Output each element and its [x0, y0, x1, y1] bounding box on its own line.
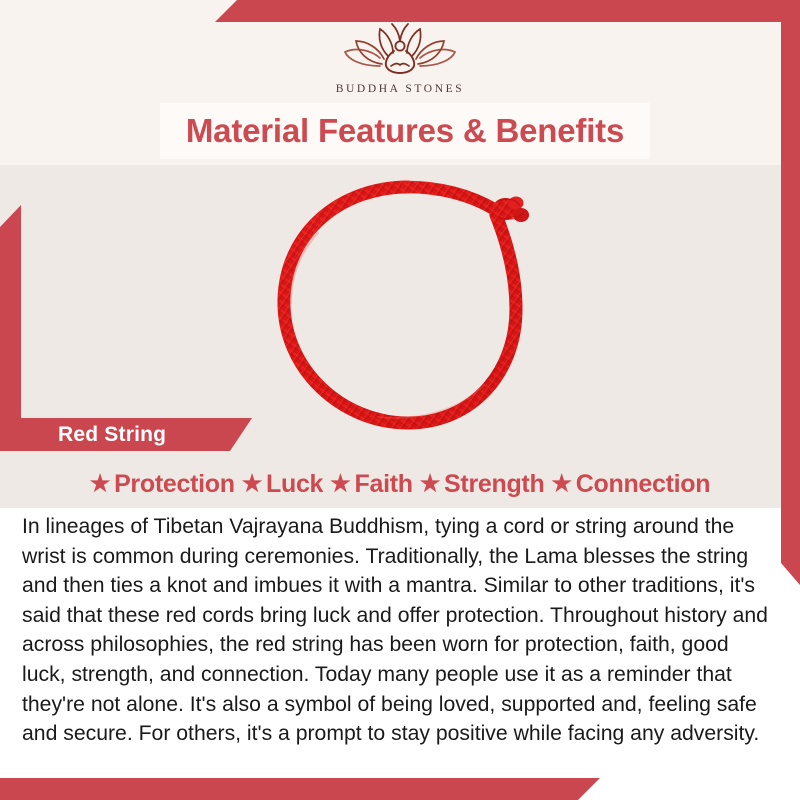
star-icon: ★ — [420, 472, 440, 495]
benefit-label: Connection — [576, 470, 711, 499]
product-name-label: Red String — [58, 423, 166, 447]
brand-name: BUDDHA STONES — [336, 83, 464, 95]
benefit-item-connection: ★ Connection — [551, 470, 710, 499]
red-braided-bracelet-image — [258, 173, 558, 435]
benefit-item-faith: ★ Faith — [330, 470, 413, 499]
lotus-meditation-icon — [336, 22, 464, 82]
star-icon: ★ — [330, 472, 350, 495]
decor-bar-bottom — [0, 778, 600, 800]
benefit-label: Faith — [355, 470, 413, 499]
star-icon: ★ — [242, 472, 262, 495]
benefit-item-strength: ★ Strength — [420, 470, 545, 499]
star-icon: ★ — [551, 472, 571, 495]
benefit-label: Strength — [444, 470, 544, 499]
benefits-list: ★ Protection ★ Luck ★ Faith ★ Strength ★… — [0, 466, 800, 502]
page-title: Material Features & Benefits — [186, 112, 624, 150]
benefit-item-protection: ★ Protection — [90, 470, 235, 499]
star-icon: ★ — [90, 472, 110, 495]
brand-logo: BUDDHA STONES — [0, 22, 800, 102]
product-image-area — [0, 165, 800, 418]
page-title-box: Material Features & Benefits — [160, 103, 650, 159]
decor-bar-top — [215, 0, 800, 22]
benefit-item-luck: ★ Luck — [242, 470, 323, 499]
product-name-banner: Red String — [0, 418, 252, 451]
benefit-label: Protection — [114, 470, 235, 499]
infographic-page: BUDDHA STONES Material Features & Benefi… — [0, 0, 800, 800]
benefit-label: Luck — [266, 470, 323, 499]
description-paragraph: In lineages of Tibetan Vajrayana Buddhis… — [22, 512, 778, 749]
